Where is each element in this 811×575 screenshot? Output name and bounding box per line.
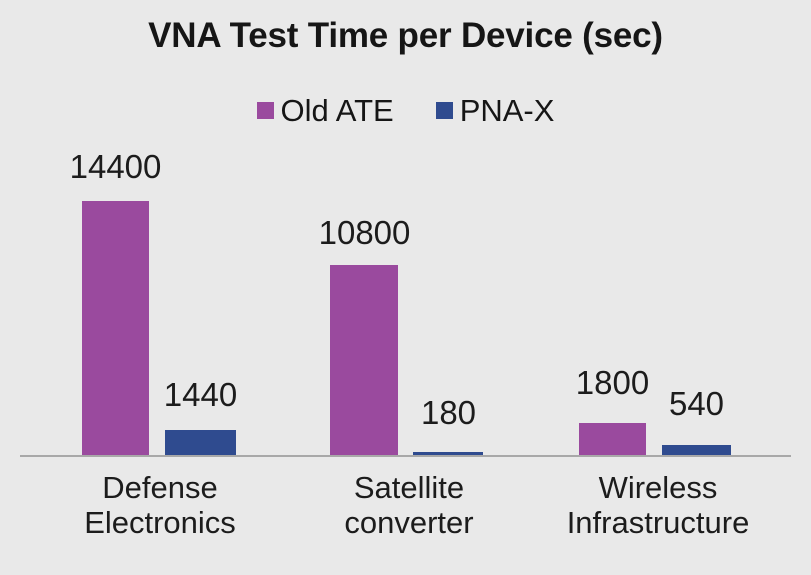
bar-value-pna-x-defense-electronics: 1440 <box>133 378 268 411</box>
bar-pna-x-defense-electronics[interactable] <box>165 430 236 455</box>
bar-old-ate-defense-electronics[interactable] <box>82 201 149 455</box>
bar-value-old-ate-defense-electronics: 14400 <box>48 150 183 183</box>
category-label-line-2: Infrastructure <box>527 505 789 540</box>
category-label-line-1: Satellite <box>354 470 464 505</box>
category-label-line-1: Defense <box>102 470 217 505</box>
category-label-line-1: Wireless <box>599 470 718 505</box>
bar-value-old-ate-satellite-converter: 10800 <box>297 216 432 249</box>
bar-value-pna-x-satellite-converter: 180 <box>381 396 516 429</box>
category-axis-line <box>20 455 791 457</box>
bar-old-ate-wireless-infrastructure[interactable] <box>579 423 646 455</box>
category-label-line-2: Electronics <box>29 505 291 540</box>
plot-area: 14400 1440 Defense Electronics 10800 180… <box>0 0 811 575</box>
chart-container: VNA Test Time per Device (sec) Old ATE P… <box>0 0 811 575</box>
bar-pna-x-wireless-infrastructure[interactable] <box>662 445 731 455</box>
bar-value-pna-x-wireless-infrastructure: 540 <box>629 387 764 420</box>
category-label-line-2: converter <box>278 505 540 540</box>
category-label-defense-electronics: Defense Electronics <box>29 470 291 541</box>
category-label-wireless-infrastructure: Wireless Infrastructure <box>527 470 789 541</box>
category-label-satellite-converter: Satellite converter <box>278 470 540 541</box>
